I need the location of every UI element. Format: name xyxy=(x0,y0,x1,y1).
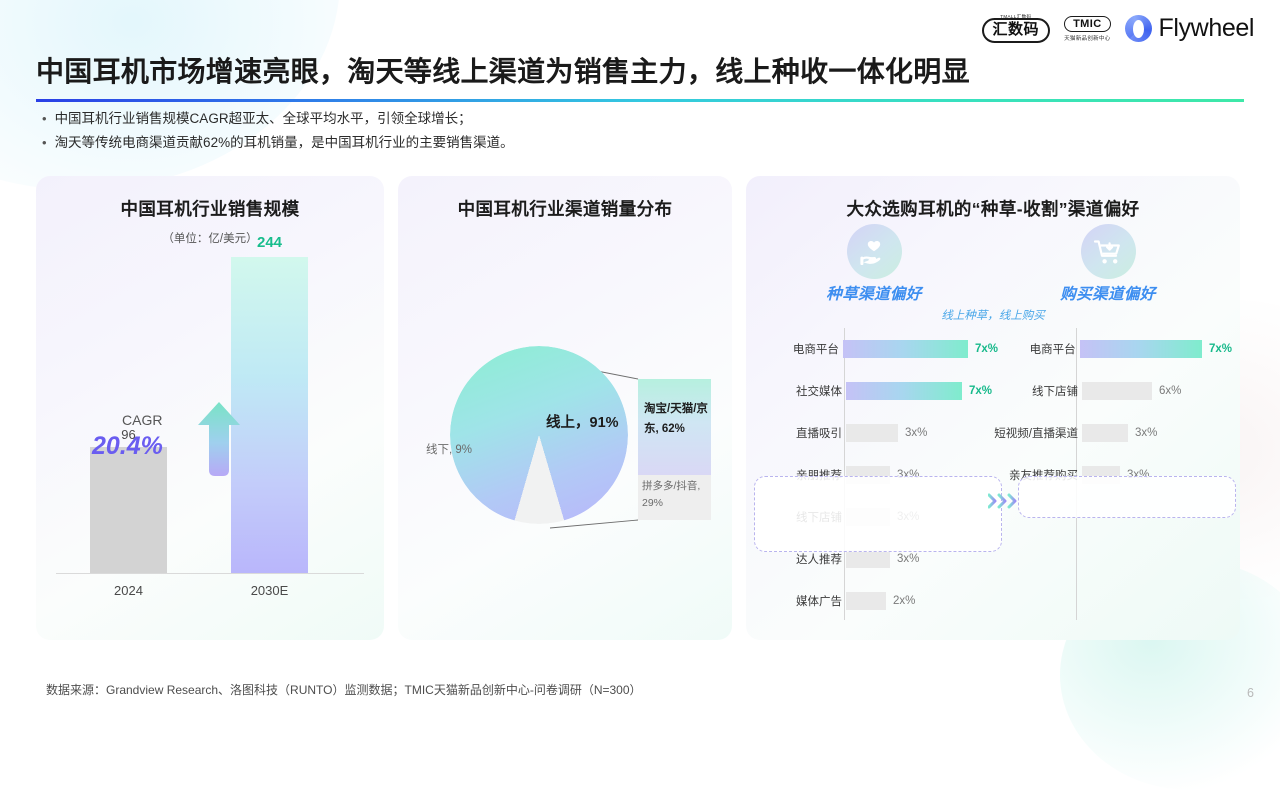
breakout-label-taobao: 淘宝/天猫/京东, 62% xyxy=(644,399,716,439)
card-3-title: 大众选购耳机的“种草-收割”渠道偏好 xyxy=(746,176,1240,221)
bar-value-2030e: 244 xyxy=(231,234,308,251)
preference-row-value: 3x% xyxy=(1135,427,1157,439)
purchase-preference-header: 购买渠道偏好 xyxy=(1008,224,1208,304)
breakout-label-pdd: 拼多多/抖音, 29% xyxy=(642,478,716,512)
huishuma-logo: TMALL汇数码 汇数码 xyxy=(982,14,1051,43)
preference-row: 线下店铺6x% xyxy=(994,370,1232,412)
preference-row-label: 媒体广告 xyxy=(760,593,842,609)
tmic-logo-subtitle: 天猫新品创新中心 xyxy=(1064,34,1110,42)
growth-arrow-icon xyxy=(196,400,242,478)
pie-slice-offline xyxy=(450,346,628,524)
preference-row-bar xyxy=(1082,382,1152,400)
card-1-unit: （单位：亿/美元） xyxy=(36,230,384,246)
preference-row-value: 7x% xyxy=(969,385,992,397)
preference-row-bar xyxy=(846,424,898,442)
preference-row: 短视频/直播渠道3x% xyxy=(994,412,1232,454)
cagr-label: CAGR xyxy=(122,412,162,428)
cagr-value: 20.4% xyxy=(92,432,163,461)
bar-2030e xyxy=(231,257,308,573)
seeding-preference-label: 种草渠道偏好 xyxy=(774,282,974,304)
pie-chart-channels xyxy=(450,346,628,524)
flywheel-logo-text: Flywheel xyxy=(1159,14,1254,43)
preference-row-label: 社交媒体 xyxy=(760,383,842,399)
preference-row-bar xyxy=(846,550,890,568)
bullet-text: 淘天等传统电商渠道贡献62%的耳机销量，是中国耳机行业的主要销售渠道。 xyxy=(55,134,514,152)
highlight-box-right xyxy=(1018,476,1236,518)
preference-row-value: 2x% xyxy=(893,595,915,607)
bullet-item: • 淘天等传统电商渠道贡献62%的耳机销量，是中国耳机行业的主要销售渠道。 xyxy=(42,134,514,152)
shopping-cart-icon xyxy=(1081,224,1136,279)
preference-row: 社交媒体7x% xyxy=(760,370,998,412)
preference-row-label: 短视频/直播渠道 xyxy=(994,425,1078,441)
preference-row-bar xyxy=(846,382,962,400)
preference-row: 直播吸引3x% xyxy=(760,412,998,454)
bar-2024 xyxy=(90,447,167,573)
preference-row: 电商平台7x% xyxy=(760,328,998,370)
card-channel-preference: 大众选购耳机的“种草-收割”渠道偏好 种草渠道偏好 xyxy=(746,176,1240,640)
title-underline xyxy=(36,99,1244,102)
pie-label-offline: 线下, 9% xyxy=(426,441,472,457)
preference-row-bar xyxy=(1080,340,1202,358)
preference-columns: 电商平台7x%社交媒体7x%直播吸引3x%亲朋推荐3x%线下店铺3x%达人推荐3… xyxy=(746,328,1240,628)
x-axis-label-2030e: 2030E xyxy=(231,583,308,598)
highlight-box-left xyxy=(754,476,1002,552)
tmic-logo: TMIC 天猫新品创新中心 xyxy=(1064,16,1110,42)
bullet-text: 中国耳机行业销售规模CAGR超亚太、全球平均水平，引领全球增长； xyxy=(55,110,472,128)
preference-header-row: 种草渠道偏好 购买渠道偏好 xyxy=(746,224,1240,310)
x-axis-label-2024: 2024 xyxy=(90,583,167,598)
preference-row-label: 直播吸引 xyxy=(760,425,842,441)
preference-row-label: 电商平台 xyxy=(760,341,839,357)
purchase-preference-label: 购买渠道偏好 xyxy=(1008,282,1208,304)
pie-label-online: 线上，91% xyxy=(546,411,619,432)
logo-bar: TMALL汇数码 汇数码 TMIC 天猫新品创新中心 Flywheel xyxy=(982,14,1254,43)
preference-row-bar xyxy=(1082,424,1128,442)
flywheel-logo: Flywheel xyxy=(1125,14,1254,43)
huishuma-logo-text: 汇数码 xyxy=(982,18,1051,43)
preference-row-label: 电商平台 xyxy=(994,341,1076,357)
bullet-item: • 中国耳机行业销售规模CAGR超亚太、全球平均水平，引领全球增长； xyxy=(42,110,514,128)
preference-row-value: 6x% xyxy=(1159,385,1181,397)
card-sales-scale: 中国耳机行业销售规模 （单位：亿/美元） 96 244 2024 2030E C… xyxy=(36,176,384,640)
preference-row-bar xyxy=(843,340,968,358)
hand-heart-icon xyxy=(847,224,902,279)
card-1-title: 中国耳机行业销售规模 xyxy=(36,176,384,221)
preference-row-value: 3x% xyxy=(897,553,919,565)
chevron-right-icon xyxy=(988,493,1022,509)
flywheel-mark-icon xyxy=(1125,15,1152,42)
seeding-preference-header: 种草渠道偏好 xyxy=(774,224,974,304)
title-block: 中国耳机市场增速亮眼，淘天等线上渠道为销售主力，线上种收一体化明显 xyxy=(36,50,1244,102)
page-number: 6 xyxy=(1247,686,1254,700)
preference-row-bar xyxy=(846,592,886,610)
bar-chart-sales: 96 244 2024 2030E CAGR 20.4% xyxy=(36,272,384,602)
purchase-preference-list: 电商平台7x%线下店铺6x%短视频/直播渠道3x%亲友推荐购买3x% xyxy=(994,328,1232,496)
preference-row-label: 达人推荐 xyxy=(760,551,842,567)
card-channel-distribution: 中国耳机行业渠道销量分布 线上，91% 线下, 9% 淘宝/天猫/京东, 62%… xyxy=(398,176,732,640)
page-title: 中国耳机市场增速亮眼，淘天等线上渠道为销售主力，线上种收一体化明显 xyxy=(36,50,1244,90)
bullet-dot-icon: • xyxy=(42,134,47,152)
preference-row-value: 7x% xyxy=(1209,343,1232,355)
preference-row-value: 3x% xyxy=(905,427,927,439)
preference-row: 电商平台7x% xyxy=(994,328,1232,370)
cards-row: 中国耳机行业销售规模 （单位：亿/美元） 96 244 2024 2030E C… xyxy=(36,176,1240,640)
bullet-list: • 中国耳机行业销售规模CAGR超亚太、全球平均水平，引领全球增长； • 淘天等… xyxy=(42,110,514,158)
card-2-title: 中国耳机行业渠道销量分布 xyxy=(398,176,732,221)
preference-subtitle: 线上种草，线上购买 xyxy=(746,307,1240,323)
data-source-note: 数据来源：Grandview Research、洛图科技（RUNTO）监测数据；… xyxy=(46,681,642,698)
chart-axis-line xyxy=(56,573,364,574)
preference-row: 媒体广告2x% xyxy=(760,580,998,622)
tmic-logo-box-text: TMIC xyxy=(1064,16,1110,32)
seeding-preference-list: 电商平台7x%社交媒体7x%直播吸引3x%亲朋推荐3x%线下店铺3x%达人推荐3… xyxy=(760,328,998,622)
preference-row-label: 线下店铺 xyxy=(994,383,1078,399)
bullet-dot-icon: • xyxy=(42,110,47,128)
